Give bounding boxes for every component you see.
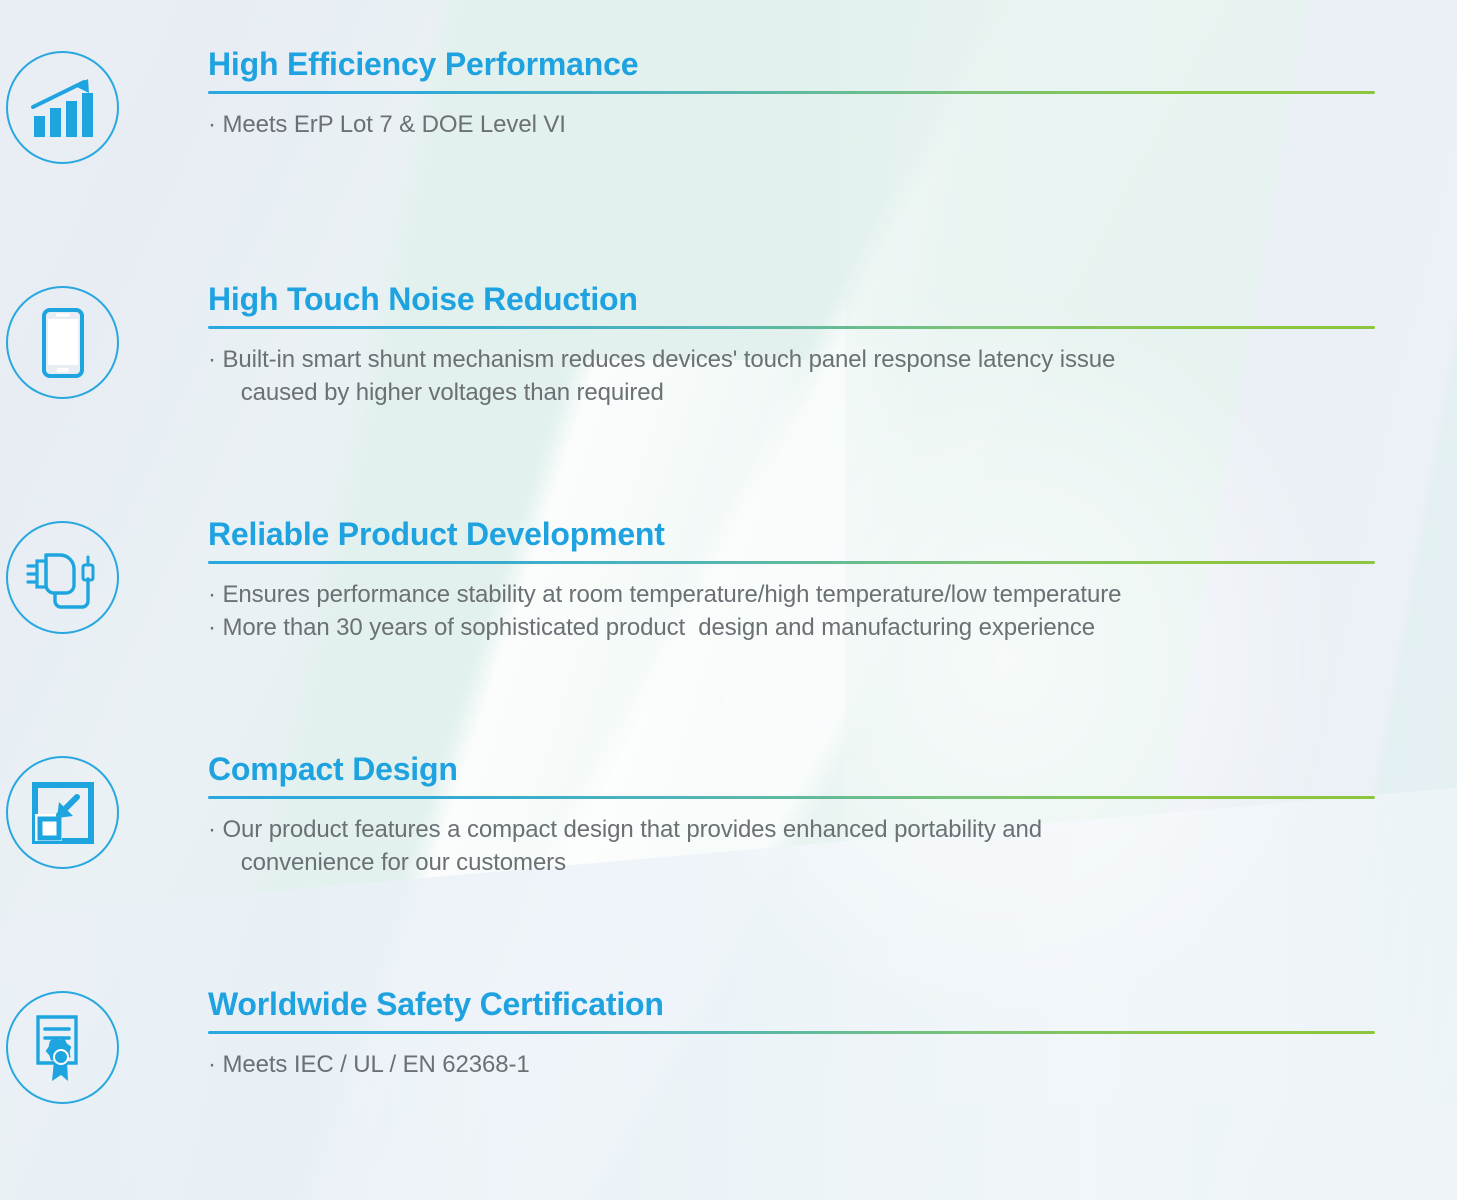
feature-icon-container <box>0 987 125 1104</box>
feature-bullets: · Meets ErP Lot 7 & DOE Level VI <box>208 108 1375 141</box>
feature-title: High Efficiency Performance <box>208 47 1375 82</box>
feature-bullets: · Built-in smart shunt mechanism reduces… <box>208 343 1375 409</box>
feature-item-reliable-product-development: Reliable Product Development · Ensures p… <box>0 517 1457 644</box>
feature-item-high-touch-noise-reduction: High Touch Noise Reduction · Built-in sm… <box>0 282 1457 409</box>
certificate-award-icon <box>6 991 119 1104</box>
power-adapter-icon <box>6 521 119 634</box>
feature-icon-container <box>0 282 125 399</box>
feature-bullets: · Meets IEC / UL / EN 62368-1 <box>208 1048 1375 1081</box>
feature-body: Reliable Product Development · Ensures p… <box>125 517 1457 644</box>
feature-bullets: · Our product features a compact design … <box>208 813 1375 879</box>
feature-item-worldwide-safety-certification: Worldwide Safety Certification · Meets I… <box>0 987 1457 1104</box>
feature-bullets: · Ensures performance stability at room … <box>208 578 1375 644</box>
smartphone-icon <box>6 286 119 399</box>
feature-title: Compact Design <box>208 752 1375 787</box>
feature-item-high-efficiency-performance: High Efficiency Performance · Meets ErP … <box>0 47 1457 164</box>
feature-bullet: · Meets ErP Lot 7 & DOE Level VI <box>208 108 1375 141</box>
feature-title: Reliable Product Development <box>208 517 1375 552</box>
feature-body: High Efficiency Performance · Meets ErP … <box>125 47 1457 141</box>
feature-item-compact-design: Compact Design · Our product features a … <box>0 752 1457 879</box>
compact-resize-icon <box>6 756 119 869</box>
feature-bullet: · Our product features a compact design … <box>208 813 1375 879</box>
feature-divider <box>208 1031 1375 1034</box>
feature-icon-container <box>0 517 125 634</box>
feature-title: Worldwide Safety Certification <box>208 987 1375 1022</box>
feature-body: Worldwide Safety Certification · Meets I… <box>125 987 1457 1081</box>
feature-icon-container <box>0 47 125 164</box>
feature-divider <box>208 561 1375 564</box>
feature-body: High Touch Noise Reduction · Built-in sm… <box>125 282 1457 409</box>
feature-body: Compact Design · Our product features a … <box>125 752 1457 879</box>
feature-icon-container <box>0 752 125 869</box>
feature-bullet: · Meets IEC / UL / EN 62368-1 <box>208 1048 1375 1081</box>
feature-divider <box>208 796 1375 799</box>
feature-title: High Touch Noise Reduction <box>208 282 1375 317</box>
growth-bar-chart-icon <box>6 51 119 164</box>
feature-divider <box>208 326 1375 329</box>
feature-bullet: · Ensures performance stability at room … <box>208 578 1375 611</box>
feature-divider <box>208 91 1375 94</box>
feature-bullet: · Built-in smart shunt mechanism reduces… <box>208 343 1375 409</box>
feature-bullet: · More than 30 years of sophisticated pr… <box>208 611 1375 644</box>
